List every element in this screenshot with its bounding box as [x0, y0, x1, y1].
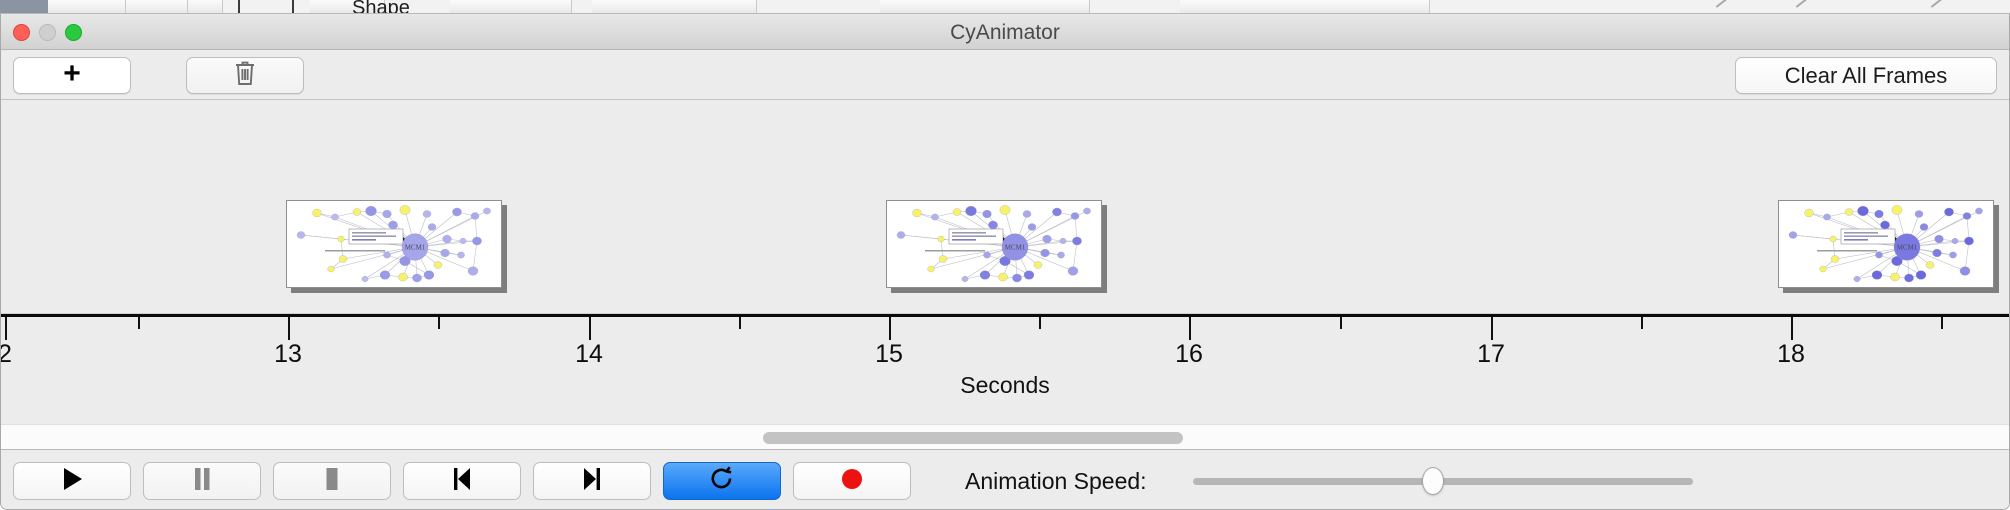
backdrop-dark-segment	[0, 0, 48, 14]
record-button[interactable]	[793, 462, 911, 500]
animation-speed-slider[interactable]	[1193, 465, 1693, 497]
ruler-tick-label: 13	[274, 340, 302, 369]
backdrop-tick	[292, 0, 294, 14]
ruler-tick-minor	[138, 317, 140, 329]
timeline-track[interactable]: MCM1 MCM1 MCM1	[1, 100, 2009, 314]
svg-text:MCM1: MCM1	[405, 244, 426, 252]
trash-icon	[233, 59, 257, 92]
timeline-frame-thumbnail[interactable]: MCM1	[1778, 200, 1994, 288]
ruler-tick-major	[1189, 317, 1191, 340]
ruler-tick-major	[5, 317, 7, 340]
backdrop-hatch	[1716, 0, 1727, 8]
timeline-ruler: Seconds 2131415161718	[1, 314, 2009, 424]
ruler-tick-label: 15	[875, 340, 903, 369]
ruler-tick-label: 16	[1175, 340, 1203, 369]
ruler-baseline	[1, 314, 2009, 317]
backdrop-segment	[126, 0, 188, 14]
ruler-tick-label: 14	[575, 340, 603, 369]
skip-start-button[interactable]	[403, 462, 521, 500]
skip-end-button[interactable]	[533, 462, 651, 500]
slider-thumb[interactable]	[1422, 467, 1444, 495]
timeline-frame-thumbnail[interactable]: MCM1	[886, 200, 1102, 288]
delete-frame-button[interactable]	[186, 57, 304, 94]
ruler-tick-label: 2	[1, 340, 12, 369]
axis-title: Seconds	[1, 372, 2009, 399]
ruler-tick-minor	[1340, 317, 1342, 329]
backdrop-segment	[592, 0, 757, 14]
ruler-tick-minor	[438, 317, 440, 329]
stop-button[interactable]	[273, 462, 391, 500]
pause-icon	[191, 466, 213, 497]
scrollbar-thumb[interactable]	[763, 432, 1183, 444]
ruler-tick-minor	[1039, 317, 1041, 329]
window-title: CyAnimator	[1, 21, 2009, 45]
clear-all-frames-button[interactable]: Clear All Frames	[1735, 57, 1997, 94]
svg-text:MCM1: MCM1	[1897, 244, 1918, 252]
ruler-tick-label: 17	[1477, 340, 1505, 369]
backdrop-segment	[188, 0, 223, 14]
backdrop-window-label: Shape	[352, 0, 410, 14]
background-application-strip: Shape	[0, 0, 2010, 14]
cyanimator-window: CyAnimator + Clear All Frames	[0, 14, 2010, 510]
title-bar[interactable]: CyAnimator	[1, 14, 2009, 50]
clear-all-frames-label: Clear All Frames	[1785, 63, 1948, 89]
backdrop-segment	[48, 0, 126, 14]
backdrop-segment	[880, 0, 1090, 14]
add-frame-button[interactable]: +	[13, 57, 131, 94]
backdrop-hatch	[1796, 0, 1807, 8]
animation-speed-label: Animation Speed:	[965, 468, 1147, 495]
play-icon	[60, 466, 84, 497]
backdrop-segment	[1180, 0, 1430, 14]
timeline-frame-thumbnail[interactable]: MCM1	[286, 200, 502, 288]
ruler-tick-minor	[739, 317, 741, 329]
horizontal-scrollbar[interactable]	[1, 424, 2009, 450]
svg-text:MCM1: MCM1	[1005, 244, 1026, 252]
ruler-tick-major	[1791, 317, 1793, 340]
pause-button[interactable]	[143, 462, 261, 500]
record-icon	[839, 466, 865, 497]
backdrop-tick	[238, 0, 240, 14]
loop-button[interactable]	[663, 462, 781, 500]
loop-icon	[709, 465, 735, 498]
backdrop-hatch	[1931, 0, 1942, 8]
play-button[interactable]	[13, 462, 131, 500]
skip-end-icon	[580, 466, 604, 497]
ruler-tick-major	[288, 317, 290, 340]
ruler-tick-major	[889, 317, 891, 340]
backdrop-segment	[450, 0, 572, 14]
ruler-tick-minor	[1941, 317, 1943, 329]
stop-icon	[321, 466, 343, 497]
skip-start-icon	[450, 466, 474, 497]
plus-icon: +	[63, 59, 81, 89]
transport-bar: Animation Speed:	[1, 450, 2009, 510]
ruler-tick-major	[1491, 317, 1493, 340]
ruler-tick-major	[589, 317, 591, 340]
ruler-tick-minor	[1641, 317, 1643, 329]
ruler-tick-label: 18	[1777, 340, 1805, 369]
toolbar: + Clear All Frames	[1, 50, 2009, 100]
